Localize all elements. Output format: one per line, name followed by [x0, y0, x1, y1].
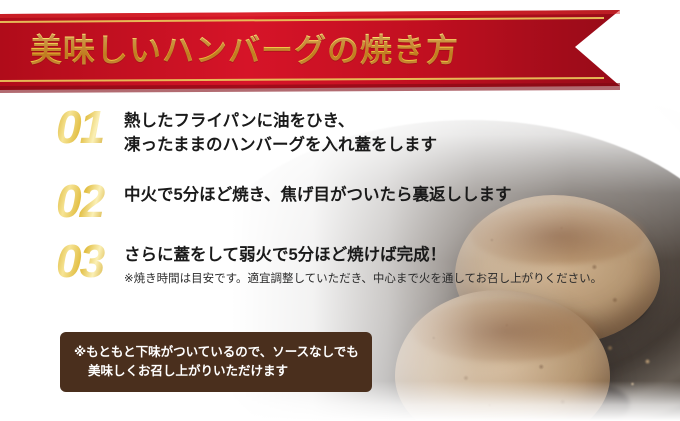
- step-text-line: 中火で5分ほど焼き、焦げ目がついたら裏返しします: [124, 184, 512, 208]
- step-body-02: 中火で5分ほど焼き、焦げ目がついたら裏返しします: [124, 178, 512, 208]
- step-note: ※焼き時間は目安です。適宜調整していただき、中心まで火を通してお召し上がりくださ…: [124, 272, 602, 287]
- callout-box: ※もともと下味がついているので、ソースなしでも 美味しくお召し上がりいただけます: [60, 332, 372, 392]
- promo-page: 美味しいハンバーグの焼き方 01 熱したフライパンに油をひき、 凍ったままのハン…: [0, 0, 680, 421]
- step-text-line: 凍ったままのハンバーグを入れ蓋をします: [124, 134, 437, 158]
- step-item-02: 02 中火で5分ほど焼き、焦げ目がついたら裏返しします: [56, 178, 512, 224]
- step-body-01: 熱したフライパンに油をひき、 凍ったままのハンバーグを入れ蓋をします: [124, 104, 437, 158]
- step-text-line: さらに蓋をして弱火で5分ほど焼けば完成！: [124, 244, 602, 268]
- step-text-line: 熱したフライパンに油をひき、: [124, 110, 437, 134]
- step-item-01: 01 熱したフライパンに油をひき、 凍ったままのハンバーグを入れ蓋をします: [56, 104, 437, 158]
- callout-line-1: ※もともと下味がついているので、ソースなしでも: [74, 343, 358, 362]
- header-ribbon: 美味しいハンバーグの焼き方: [0, 0, 680, 100]
- step-number-01: 01: [56, 104, 124, 150]
- step-body-03: さらに蓋をして弱火で5分ほど焼けば完成！ ※焼き時間は目安です。適宜調整していた…: [124, 238, 602, 287]
- step-item-03: 03 さらに蓋をして弱火で5分ほど焼けば完成！ ※焼き時間は目安です。適宜調整し…: [56, 238, 602, 287]
- step-number-02: 02: [56, 178, 124, 224]
- step-number-03: 03: [56, 238, 124, 284]
- callout-line-2: 美味しくお召し上がりいただけます: [74, 362, 358, 381]
- page-title: 美味しいハンバーグの焼き方: [30, 20, 590, 76]
